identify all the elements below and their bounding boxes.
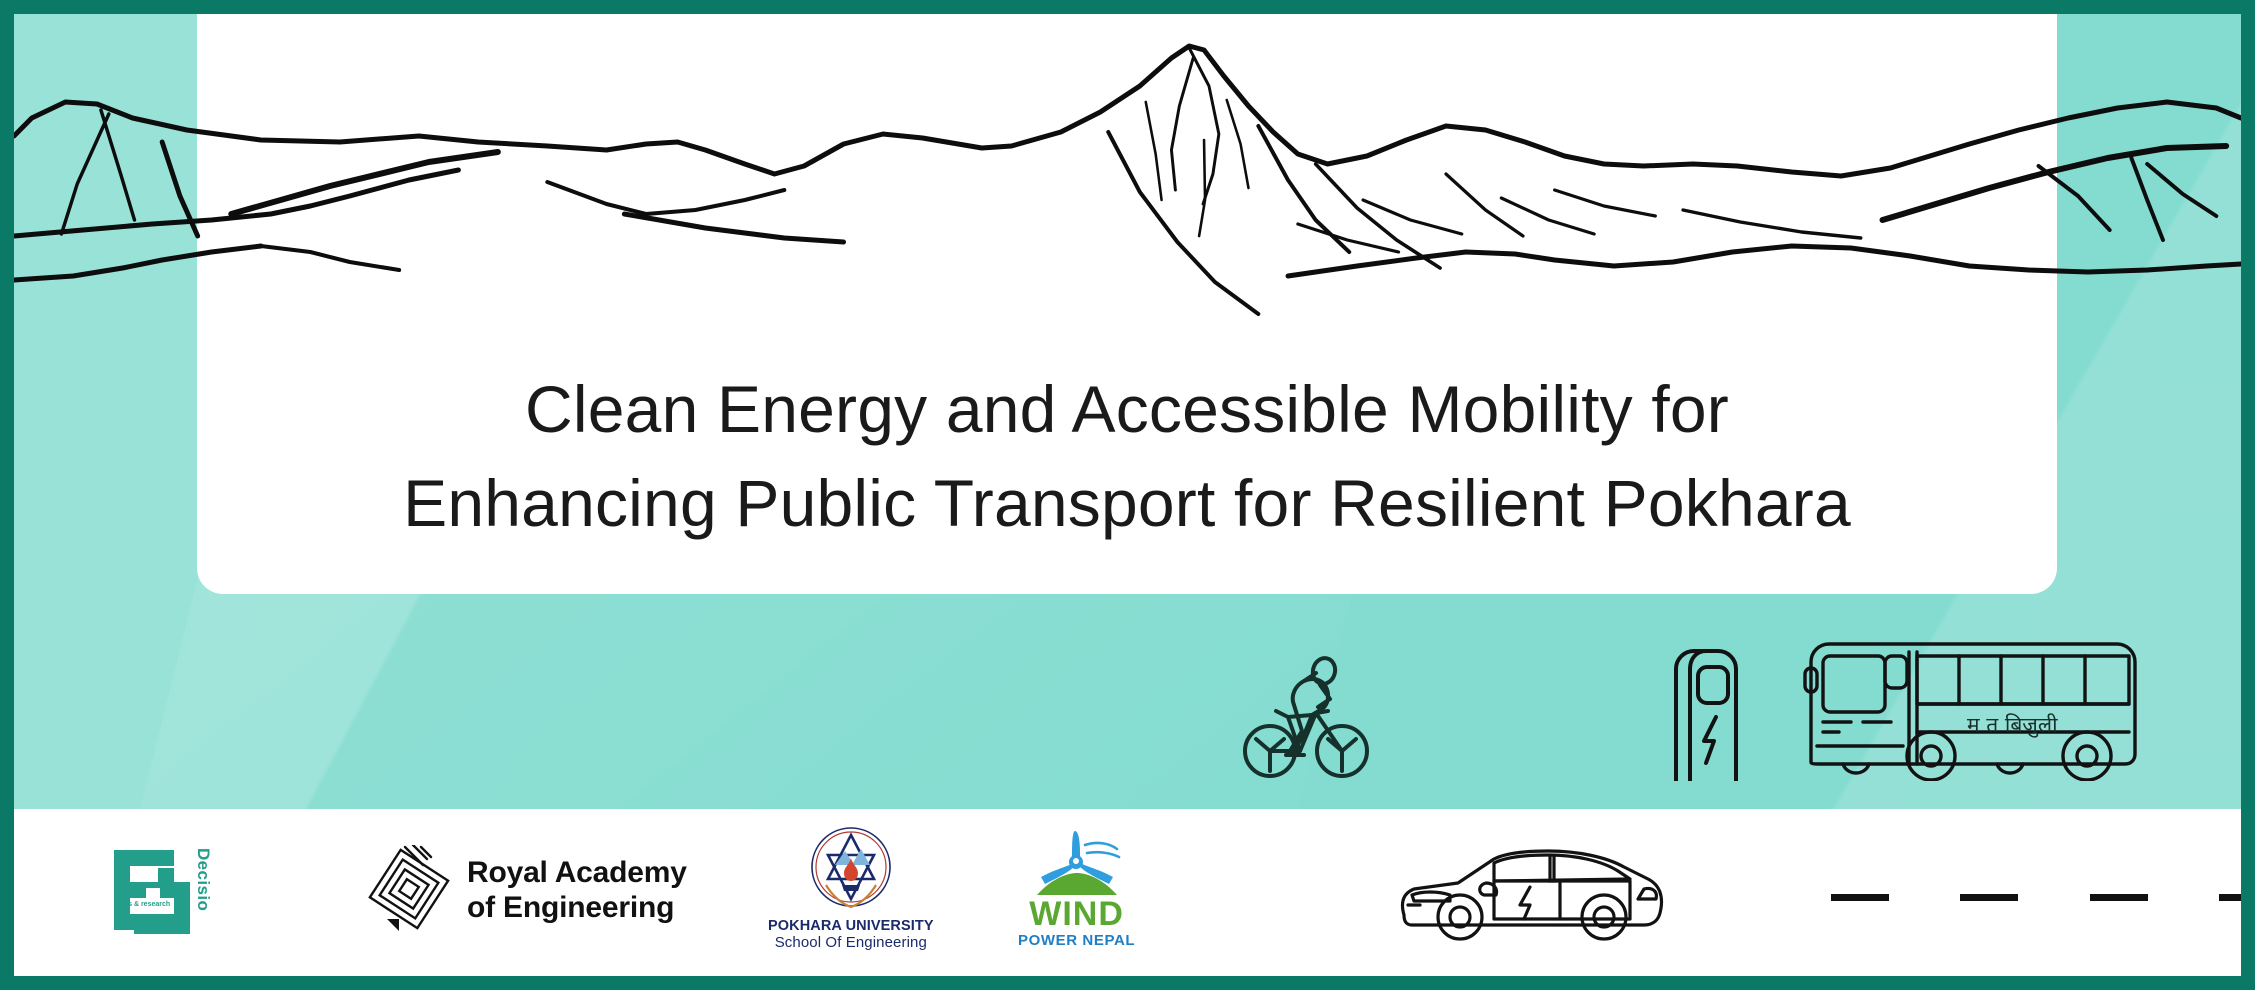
- royal-academy-mark-icon: [365, 845, 453, 937]
- royal-academy-wordmark: Royal Academy of Engineering: [467, 856, 687, 926]
- logo-wind-power-nepal[interactable]: WIND POWER NEPAL: [1018, 825, 1135, 949]
- road-dash-2: [1960, 894, 2018, 901]
- royal-academy-line-2: of Engineering: [467, 891, 687, 926]
- road-dash-4: [2219, 894, 2255, 901]
- page-title: Clean Energy and Accessible Mobility for…: [197, 362, 2057, 550]
- logo-pokhara-university[interactable]: 1997 POKHARA UNIVERSITY School Of Engine…: [768, 825, 934, 951]
- title-card: Clean Energy and Accessible Mobility for…: [197, 0, 2057, 594]
- title-line-2: Enhancing Public Transport for Resilient…: [257, 456, 1997, 550]
- ev-charging-station-icon: [1662, 641, 1742, 781]
- green-decision-word-side: Decisio: [194, 848, 212, 911]
- logo-green-decision[interactable]: labs & research Decisio: [112, 832, 252, 952]
- cyclist-icon: [1242, 651, 1372, 781]
- road-dash-3: [2090, 894, 2148, 901]
- electric-bus-icon: म त बिजुली: [1799, 636, 2139, 781]
- green-decision-mark-icon: labs & research: [112, 848, 192, 936]
- event-banner: Clean Energy and Accessible Mobility for…: [0, 0, 2255, 990]
- partner-logo-strip: labs & research Decisio: [0, 809, 2255, 976]
- wind-power-nepal-word-main: WIND: [1029, 899, 1124, 930]
- scenery-row: म त बिजुली: [14, 571, 2241, 781]
- road-dash-1: [1831, 894, 1889, 901]
- green-decision-wordmark: Decisio: [194, 848, 212, 936]
- svg-text:1997: 1997: [844, 885, 857, 891]
- bus-side-text: म त बिजुली: [1967, 711, 2058, 739]
- wind-power-nepal-word-sub: POWER NEPAL: [1018, 932, 1135, 949]
- royal-academy-line-1: Royal Academy: [467, 856, 687, 891]
- pokhara-university-crest-icon: 1997: [808, 825, 894, 915]
- pokhara-university-department: School Of Engineering: [775, 934, 927, 951]
- title-line-1: Clean Energy and Accessible Mobility for: [257, 362, 1997, 456]
- pokhara-university-name: POKHARA UNIVERSITY: [768, 918, 934, 934]
- wind-turbine-icon: [1029, 825, 1125, 899]
- electric-car-icon: [1398, 843, 1668, 943]
- logo-royal-academy-of-engineering[interactable]: Royal Academy of Engineering: [365, 845, 687, 937]
- green-decision-tagline: labs & research: [118, 901, 170, 909]
